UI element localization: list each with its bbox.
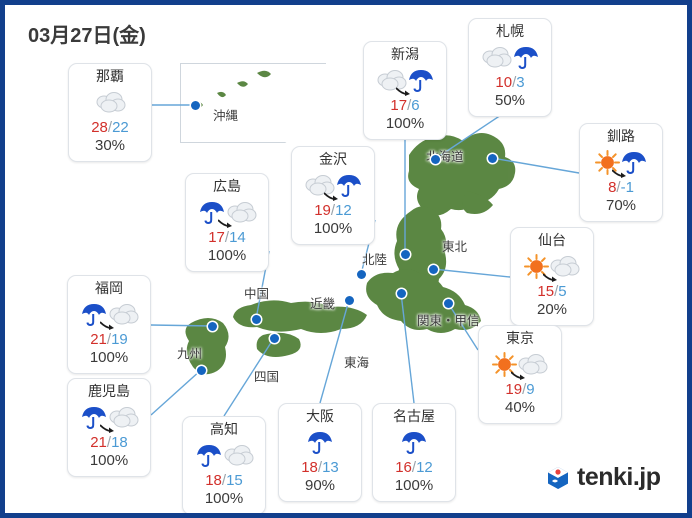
map-dot-kagoshima[interactable] — [197, 366, 206, 375]
low-temp: 3 — [516, 74, 524, 91]
city-name: 新潟 — [366, 46, 444, 63]
region-label-shikoku: 四国 — [254, 366, 279, 385]
low-temp: 9 — [526, 381, 534, 398]
map-dot-osaka[interactable] — [345, 296, 354, 305]
low-temp: 12 — [416, 459, 433, 476]
high-temp: 16 — [395, 459, 412, 476]
weather-icon-group — [471, 40, 549, 74]
city-name: 名古屋 — [375, 408, 453, 425]
weather-icon-group — [71, 85, 149, 119]
weather-icon-group — [375, 425, 453, 459]
temperature-range: 17/14 — [188, 229, 266, 247]
temperature-range: 21/18 — [70, 434, 148, 452]
forecast-card[interactable]: 高知18/15100% — [182, 416, 266, 513]
transition-arrow-icon — [543, 273, 558, 282]
transition-arrow-icon — [100, 321, 115, 330]
transition-arrow-icon — [324, 192, 339, 201]
forecast-card[interactable]: 名古屋16/12100% — [372, 403, 456, 502]
city-name: 福岡 — [70, 280, 148, 297]
map-dot-sapporo[interactable] — [431, 155, 440, 164]
temperature-range: 15/5 — [513, 283, 591, 301]
cloud-icon — [481, 45, 512, 69]
map-dot-kanazawa[interactable] — [357, 270, 366, 279]
precipitation-probability: 30% — [71, 137, 149, 155]
low-temp: 5 — [558, 283, 566, 300]
city-name: 東京 — [481, 330, 559, 347]
temperature-range: 16/12 — [375, 459, 453, 477]
precipitation-probability: 100% — [375, 477, 453, 495]
precipitation-probability: 70% — [582, 197, 660, 215]
precipitation-probability: 40% — [481, 399, 559, 417]
region-label-tokai: 東海 — [344, 352, 369, 371]
weather-icon-group — [481, 347, 559, 381]
map-dot-fukuoka[interactable] — [208, 322, 217, 331]
forecast-card[interactable]: 大阪18/1390% — [278, 403, 362, 502]
precipitation-probability: 100% — [366, 115, 444, 133]
low-temp: 13 — [322, 459, 339, 476]
weather-icon-group — [185, 438, 263, 472]
forecast-card[interactable]: 那覇28/2230% — [68, 63, 152, 162]
weather-icon-group — [281, 425, 359, 459]
forecast-card[interactable]: 福岡21/19100% — [67, 275, 151, 374]
weather-icon-group — [188, 195, 266, 229]
high-temp: 17 — [390, 97, 407, 114]
forecast-card[interactable]: 鹿児島21/18100% — [67, 378, 151, 477]
weather-icon-group — [513, 249, 591, 283]
forecast-card[interactable]: 釧路8/-170% — [579, 123, 663, 222]
map-dot-hiroshima[interactable] — [252, 315, 261, 324]
transition-arrow-icon — [100, 424, 115, 433]
umbrella-rain-icon — [306, 429, 334, 455]
map-dot-nagoya[interactable] — [397, 289, 406, 298]
map-dot-okinawa[interactable] — [191, 101, 200, 110]
city-name: 広島 — [188, 178, 266, 195]
weather-icon-group — [582, 145, 660, 179]
temperature-range: 18/15 — [185, 472, 263, 490]
temperature-range: 17/6 — [366, 97, 444, 115]
low-temp: 6 — [411, 97, 419, 114]
high-temp: 18 — [301, 459, 318, 476]
region-label-chugoku: 中国 — [244, 283, 269, 302]
city-name: 金沢 — [294, 151, 372, 168]
precipitation-probability: 90% — [281, 477, 359, 495]
forecast-card[interactable]: 仙台15/520% — [510, 227, 594, 326]
temperature-range: 8/-1 — [582, 179, 660, 197]
transition-arrow-icon — [511, 371, 526, 380]
low-temp: 12 — [335, 202, 352, 219]
region-label-kyushu: 九州 — [177, 343, 202, 362]
weather-icon-group — [366, 63, 444, 97]
forecast-card[interactable]: 東京19/940% — [478, 325, 562, 424]
region-label-okinawa: 沖縄 — [213, 105, 238, 124]
umbrella-rain-icon — [400, 429, 428, 455]
high-temp: 21 — [90, 331, 107, 348]
low-temp: 15 — [226, 472, 243, 489]
city-name: 鹿児島 — [70, 383, 148, 400]
high-temp: 19 — [505, 381, 522, 398]
transition-arrow-icon — [612, 169, 627, 178]
precipitation-probability: 100% — [70, 452, 148, 470]
city-name: 高知 — [185, 421, 263, 438]
precipitation-probability: 100% — [188, 247, 266, 265]
temperature-range: 18/13 — [281, 459, 359, 477]
map-dot-kochi[interactable] — [270, 334, 279, 343]
map-dot-tokyo[interactable] — [444, 299, 453, 308]
high-temp: 21 — [90, 434, 107, 451]
city-name: 大阪 — [281, 408, 359, 425]
weather-icon-group — [70, 297, 148, 331]
umbrella-rain-icon — [195, 442, 223, 468]
precipitation-probability: 100% — [185, 490, 263, 508]
temperature-range: 21/19 — [70, 331, 148, 349]
transition-arrow-icon — [218, 219, 233, 228]
cube-logo-icon — [545, 465, 571, 491]
city-name: 仙台 — [513, 232, 591, 249]
weather-icon-group — [294, 168, 372, 202]
temperature-range: 10/3 — [471, 74, 549, 92]
region-label-kanto: 関東・甲信 — [417, 310, 480, 329]
map-dot-kushiro[interactable] — [488, 154, 497, 163]
low-temp: 14 — [229, 229, 246, 246]
high-temp: 10 — [495, 74, 512, 91]
precipitation-probability: 100% — [70, 349, 148, 367]
high-temp: 17 — [208, 229, 225, 246]
city-name: 札幌 — [471, 23, 549, 40]
logo-text: tenki.jp — [577, 463, 661, 492]
map-dot-niigata[interactable] — [401, 250, 410, 259]
precipitation-probability: 100% — [294, 220, 372, 238]
forecast-card[interactable]: 札幌10/350% — [468, 18, 552, 117]
temperature-range: 28/22 — [71, 119, 149, 137]
forecast-card[interactable]: 新潟17/6100% — [363, 41, 447, 140]
map-dot-sendai[interactable] — [429, 265, 438, 274]
low-temp: 22 — [112, 119, 129, 136]
low-temp: -1 — [621, 179, 634, 196]
weather-icon-group — [70, 400, 148, 434]
high-temp: 18 — [205, 472, 222, 489]
temperature-range: 19/12 — [294, 202, 372, 220]
low-temp: 19 — [111, 331, 128, 348]
high-temp: 28 — [91, 119, 108, 136]
forecast-card[interactable]: 金沢19/12100% — [291, 146, 375, 245]
umbrella-rain-icon — [512, 44, 540, 70]
precipitation-probability: 50% — [471, 92, 549, 110]
high-temp: 15 — [537, 283, 554, 300]
temperature-range: 19/9 — [481, 381, 559, 399]
precipitation-probability: 20% — [513, 301, 591, 319]
region-label-hokuriku: 北陸 — [362, 249, 387, 268]
cloud-icon — [95, 90, 126, 114]
region-label-kinki: 近畿 — [310, 293, 335, 312]
high-temp: 19 — [314, 202, 331, 219]
forecast-card[interactable]: 広島17/14100% — [185, 173, 269, 272]
region-label-tohoku: 東北 — [442, 236, 467, 255]
tenki-jp-logo[interactable]: tenki.jp — [545, 463, 661, 492]
transition-arrow-icon — [396, 87, 411, 96]
cloud-icon — [223, 443, 254, 467]
low-temp: 18 — [111, 434, 128, 451]
city-name: 那覇 — [71, 68, 149, 85]
weather-map-panel: 03月27日(金) — [5, 5, 687, 513]
city-name: 釧路 — [582, 128, 660, 145]
